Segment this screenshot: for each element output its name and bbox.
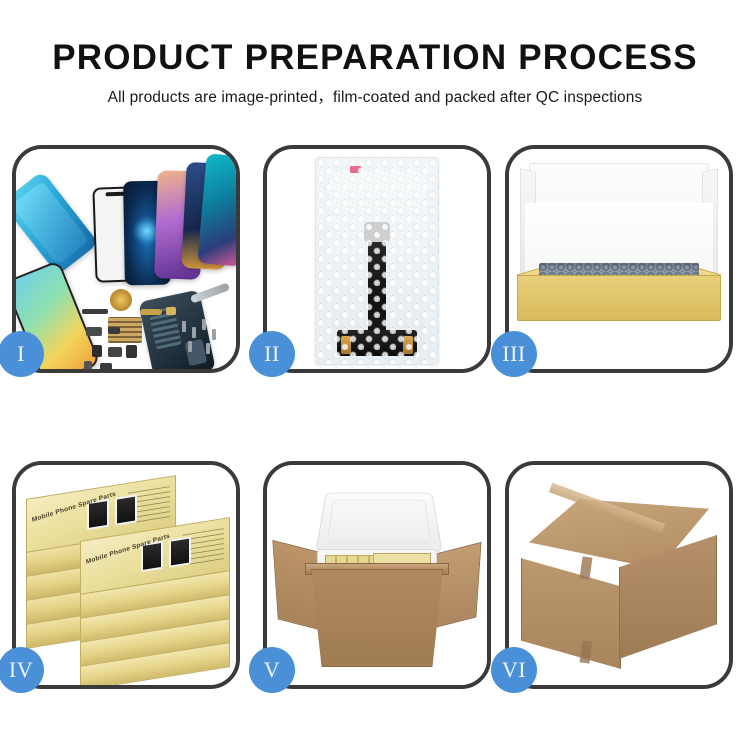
bubble-wrap-scene <box>267 149 487 369</box>
product-window-image <box>169 536 191 567</box>
step-badge-2: II <box>249 331 295 377</box>
process-step-3: III <box>505 145 733 373</box>
inner-box-scene <box>509 149 729 369</box>
small-part <box>86 327 102 336</box>
step-badge-6: VI <box>491 647 537 693</box>
sealed-carton-scene <box>509 465 729 685</box>
carton-seam <box>580 556 593 579</box>
small-part <box>108 327 120 334</box>
small-part <box>84 361 92 369</box>
box-front-wall <box>517 275 721 321</box>
step-badge-3: III <box>491 331 537 377</box>
step-2-image <box>267 149 487 369</box>
process-step-2: II <box>263 145 491 373</box>
step-1-image <box>16 149 236 369</box>
bubble-texture <box>316 158 438 364</box>
step-5-image <box>267 465 487 685</box>
process-step-1: I <box>12 145 240 373</box>
process-step-4: Mobile Phone Spare Parts Mobile Phone Sp… <box>12 461 240 689</box>
small-part <box>92 345 102 357</box>
carton-front-face <box>521 551 621 669</box>
step-3-image <box>509 149 729 369</box>
step-badge-4: IV <box>0 647 44 693</box>
open-carton-scene <box>267 465 487 685</box>
product-preparation-infographic: PRODUCT PREPARATION PROCESS All products… <box>0 0 750 750</box>
product-window-image <box>115 494 137 525</box>
open-inner-box <box>517 163 721 321</box>
foam-box-lid <box>315 493 443 553</box>
repair-tool <box>190 282 230 303</box>
small-part <box>100 363 112 369</box>
step-badge-5: V <box>249 647 295 693</box>
teal-phone-case <box>16 171 99 276</box>
step-4-image: Mobile Phone Spare Parts Mobile Phone Sp… <box>16 465 236 685</box>
page-subtitle: All products are image-printed，film-coat… <box>0 85 750 107</box>
gold-flex-connector <box>140 309 162 315</box>
carton-body <box>311 569 443 667</box>
stacked-boxes-scene: Mobile Phone Spare Parts Mobile Phone Sp… <box>16 465 236 685</box>
process-steps-grid: I II <box>0 143 750 703</box>
phone-parts-scene <box>16 149 236 369</box>
bubble-wrap-bag <box>315 157 439 365</box>
step-badge-1: I <box>0 331 44 377</box>
retail-box-stack: Mobile Phone Spare Parts Mobile Phone Sp… <box>22 491 230 669</box>
open-shipping-carton <box>277 487 477 667</box>
gold-connector <box>166 307 176 315</box>
sealed-shipping-carton <box>521 495 717 661</box>
step-6-image <box>509 465 729 685</box>
flex-cable-part <box>82 309 108 314</box>
page-title: PRODUCT PREPARATION PROCESS <box>0 38 750 78</box>
small-part <box>108 347 122 357</box>
speaker-component <box>110 289 132 311</box>
process-step-6: VI <box>505 461 733 689</box>
process-step-5: V <box>263 461 491 689</box>
header: PRODUCT PREPARATION PROCESS All products… <box>0 0 750 130</box>
screw-set <box>180 317 226 355</box>
small-part <box>126 345 137 358</box>
